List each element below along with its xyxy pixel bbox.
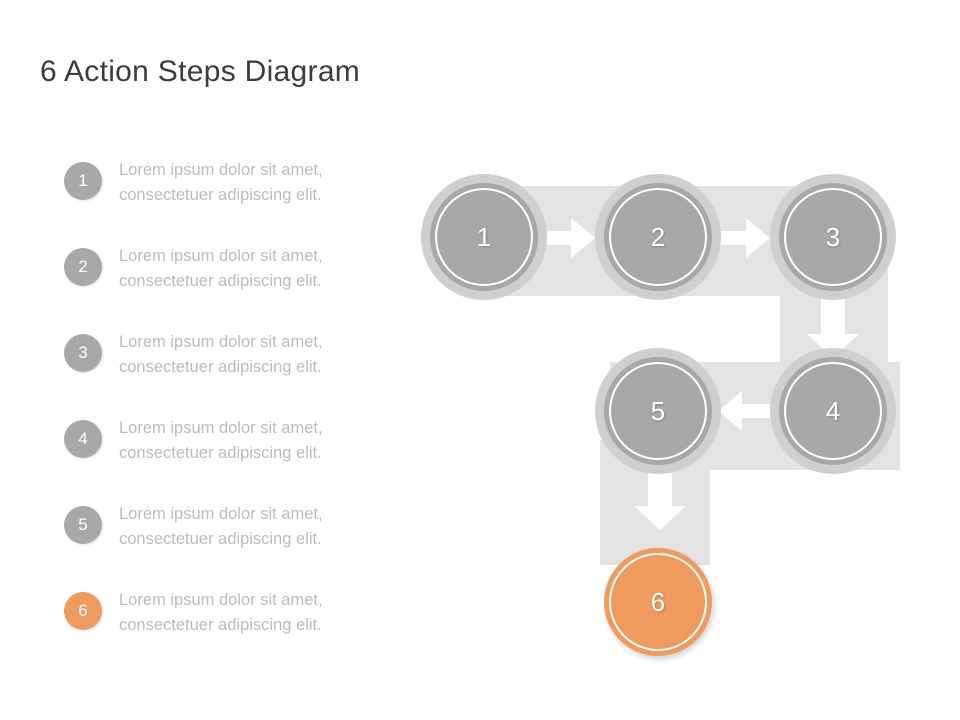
flow-node-5[interactable]: 5	[604, 357, 712, 465]
step-description-4: Lorem ipsum dolor sit amet, consectetuer…	[119, 416, 404, 466]
node-label: 4	[779, 357, 887, 465]
arrow-left-4-to-5	[718, 391, 772, 431]
step-badge-number: 6	[78, 601, 87, 620]
step-description-2: Lorem ipsum dolor sit amet, consectetuer…	[119, 244, 404, 294]
node-label: 6	[604, 548, 712, 656]
step-badge-4: 4	[64, 420, 102, 458]
node-label: 1	[430, 183, 538, 291]
step-badge-number: 2	[78, 257, 87, 276]
step-badge-number: 5	[78, 515, 87, 534]
list-item[interactable]: 5 Lorem ipsum dolor sit amet, consectetu…	[64, 502, 404, 588]
list-item[interactable]: 1 Lorem ipsum dolor sit amet, consectetu…	[64, 158, 404, 244]
flow-node-2[interactable]: 2	[604, 183, 712, 291]
flow-diagram: 1 2 3 4 5 6	[410, 150, 940, 690]
flow-node-3[interactable]: 3	[779, 183, 887, 291]
arrow-right-2-to-3	[716, 218, 770, 258]
flow-node-1[interactable]: 1	[430, 183, 538, 291]
list-item[interactable]: 6 Lorem ipsum dolor sit amet, consectetu…	[64, 588, 404, 674]
step-badge-number: 3	[78, 343, 87, 362]
step-badge-2: 2	[64, 248, 102, 286]
step-description-3: Lorem ipsum dolor sit amet, consectetuer…	[119, 330, 404, 380]
arrow-down-3-to-4	[807, 296, 859, 358]
step-badge-5: 5	[64, 506, 102, 544]
step-badge-1: 1	[64, 162, 102, 200]
node-label: 5	[604, 357, 712, 465]
arrow-right-1-to-2	[541, 218, 595, 258]
page-title: 6 Action Steps Diagram	[40, 55, 360, 89]
node-label: 3	[779, 183, 887, 291]
flow-node-6[interactable]: 6	[604, 548, 712, 656]
node-label: 2	[604, 183, 712, 291]
list-item[interactable]: 4 Lorem ipsum dolor sit amet, consectetu…	[64, 416, 404, 502]
step-description-5: Lorem ipsum dolor sit amet, consectetuer…	[119, 502, 404, 552]
arrow-down-5-to-6	[634, 468, 686, 530]
step-badge-6: 6	[64, 592, 102, 630]
step-badge-number: 1	[78, 171, 87, 190]
step-description-1: Lorem ipsum dolor sit amet, consectetuer…	[119, 158, 404, 208]
step-badge-number: 4	[78, 429, 87, 448]
list-item[interactable]: 3 Lorem ipsum dolor sit amet, consectetu…	[64, 330, 404, 416]
step-description-6: Lorem ipsum dolor sit amet, consectetuer…	[119, 588, 404, 638]
list-item[interactable]: 2 Lorem ipsum dolor sit amet, consectetu…	[64, 244, 404, 330]
step-badge-3: 3	[64, 334, 102, 372]
steps-list: 1 Lorem ipsum dolor sit amet, consectetu…	[64, 158, 404, 674]
flow-node-4[interactable]: 4	[779, 357, 887, 465]
